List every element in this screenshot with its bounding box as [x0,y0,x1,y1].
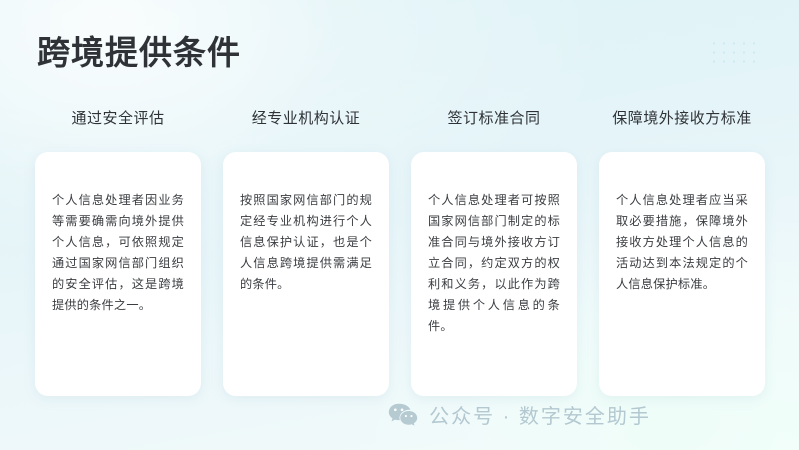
card-panel: 个人信息处理者应当采取必要措施，保障境外接收方处理个人信息的活动达到本法规定的个… [599,152,765,396]
page-title: 跨境提供条件 [37,33,241,73]
card-heading: 保障境外接收方标准 [612,108,752,130]
card-body-text: 个人信息处理者可按照国家网信部门制定的标准合同与境外接收方订立合同，约定双方的权… [428,190,560,337]
dot-grid-decoration [709,39,757,63]
footer-attribution: 公众号 · 数字安全助手 [0,400,799,429]
card-heading: 通过安全评估 [71,108,164,130]
footer-text: 公众号 · 数字安全助手 [429,400,651,429]
card-body-text: 按照国家网信部门的规定经专业机构进行个人信息保护认证，也是个人信息跨境提供需满足… [240,190,372,295]
card-heading: 签订标准合同 [447,108,540,130]
card-heading: 经专业机构认证 [252,108,361,130]
condition-card-1: 通过安全评估 个人信息处理者因业务等需要确需向境外提供个人信息，可依照规定通过国… [30,108,206,396]
condition-card-3: 签订标准合同 个人信息处理者可按照国家网信部门制定的标准合同与境外接收方订立合同… [406,108,582,396]
card-panel: 个人信息处理者可按照国家网信部门制定的标准合同与境外接收方订立合同，约定双方的权… [411,152,577,396]
condition-card-list: 通过安全评估 个人信息处理者因业务等需要确需向境外提供个人信息，可依照规定通过国… [30,108,770,396]
card-body-text: 个人信息处理者因业务等需要确需向境外提供个人信息，可依照规定通过国家网信部门组织… [52,190,184,316]
condition-card-4: 保障境外接收方标准 个人信息处理者应当采取必要措施，保障境外接收方处理个人信息的… [594,108,770,396]
wechat-icon [388,402,418,428]
condition-card-2: 经专业机构认证 按照国家网信部门的规定经专业机构进行个人信息保护认证，也是个人信… [218,108,394,396]
card-panel: 个人信息处理者因业务等需要确需向境外提供个人信息，可依照规定通过国家网信部门组织… [35,152,201,396]
card-body-text: 个人信息处理者应当采取必要措施，保障境外接收方处理个人信息的活动达到本法规定的个… [616,190,748,295]
card-panel: 按照国家网信部门的规定经专业机构进行个人信息保护认证，也是个人信息跨境提供需满足… [223,152,389,396]
slide-canvas: 跨境提供条件 通过安全评估 个人信息处理者因业务等需要确需向境外提供个人信息，可… [0,0,799,450]
